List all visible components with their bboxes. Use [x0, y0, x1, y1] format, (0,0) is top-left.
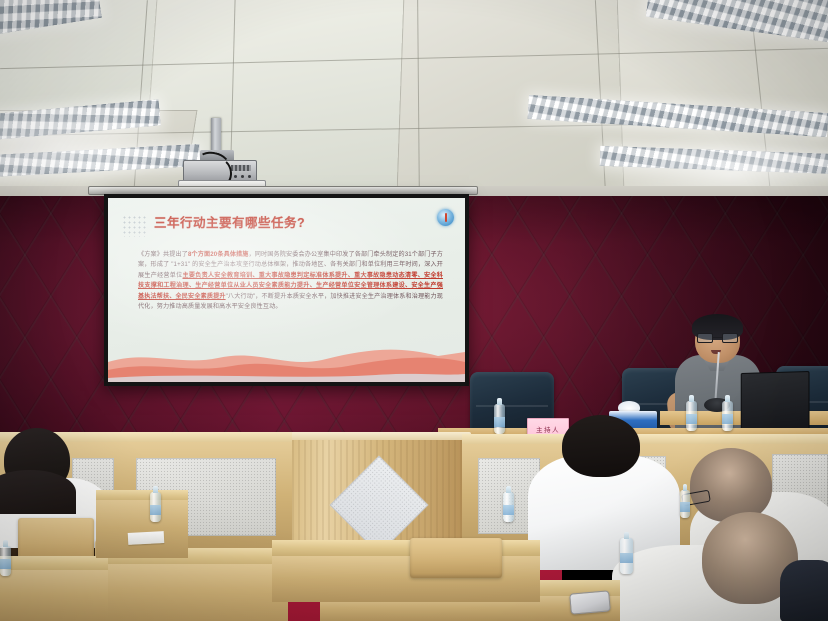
slide-title: 三年行动主要有哪些任务?	[154, 212, 305, 231]
paper-document	[128, 531, 165, 545]
water-bottle	[680, 490, 690, 518]
projection-screen-frame: 三年行动主要有哪些任务? 《方案》共提出了8个方面20条具体措施，同时国务院安委…	[104, 194, 469, 386]
speaker-glasses	[697, 333, 738, 343]
water-bottle	[150, 492, 161, 522]
laptop	[741, 371, 810, 433]
slide-dot-grid-decoration	[122, 215, 148, 237]
slide-text-run: 8个方面20条具体措施	[188, 251, 249, 258]
water-bottle	[620, 538, 633, 574]
water-bottle	[722, 401, 733, 431]
audience-person-head	[690, 448, 772, 522]
smartphone	[569, 590, 611, 614]
water-bottle	[0, 546, 11, 576]
slide-text-run: 《方案》共提出了	[138, 251, 188, 258]
ceiling	[0, 0, 828, 196]
circular-blue-logo-icon	[437, 209, 454, 226]
audience-person-head	[562, 415, 640, 477]
water-bottle	[686, 401, 697, 431]
water-bottle	[503, 492, 514, 522]
desk-front-panel-left-edge	[96, 500, 188, 558]
slide-wave-decoration	[108, 336, 465, 382]
water-bottle	[494, 404, 505, 434]
projection-screen: 三年行动主要有哪些任务? 《方案》共提出了8个方面20条具体措施，同时国务院安委…	[108, 198, 465, 382]
conference-room-photo: 三年行动主要有哪些任务? 《方案》共提出了8个方面20条具体措施，同时国务院安委…	[0, 0, 828, 621]
audience-person-torso	[780, 560, 828, 621]
desk-front-panel-front-mid	[108, 564, 288, 621]
audience-chair-back	[410, 538, 502, 578]
slide-body-text: 《方案》共提出了8个方面20条具体措施，同时国务院安委会办公室集中印发了各部门牵…	[138, 250, 443, 312]
audience-person-shoulder	[0, 470, 76, 514]
